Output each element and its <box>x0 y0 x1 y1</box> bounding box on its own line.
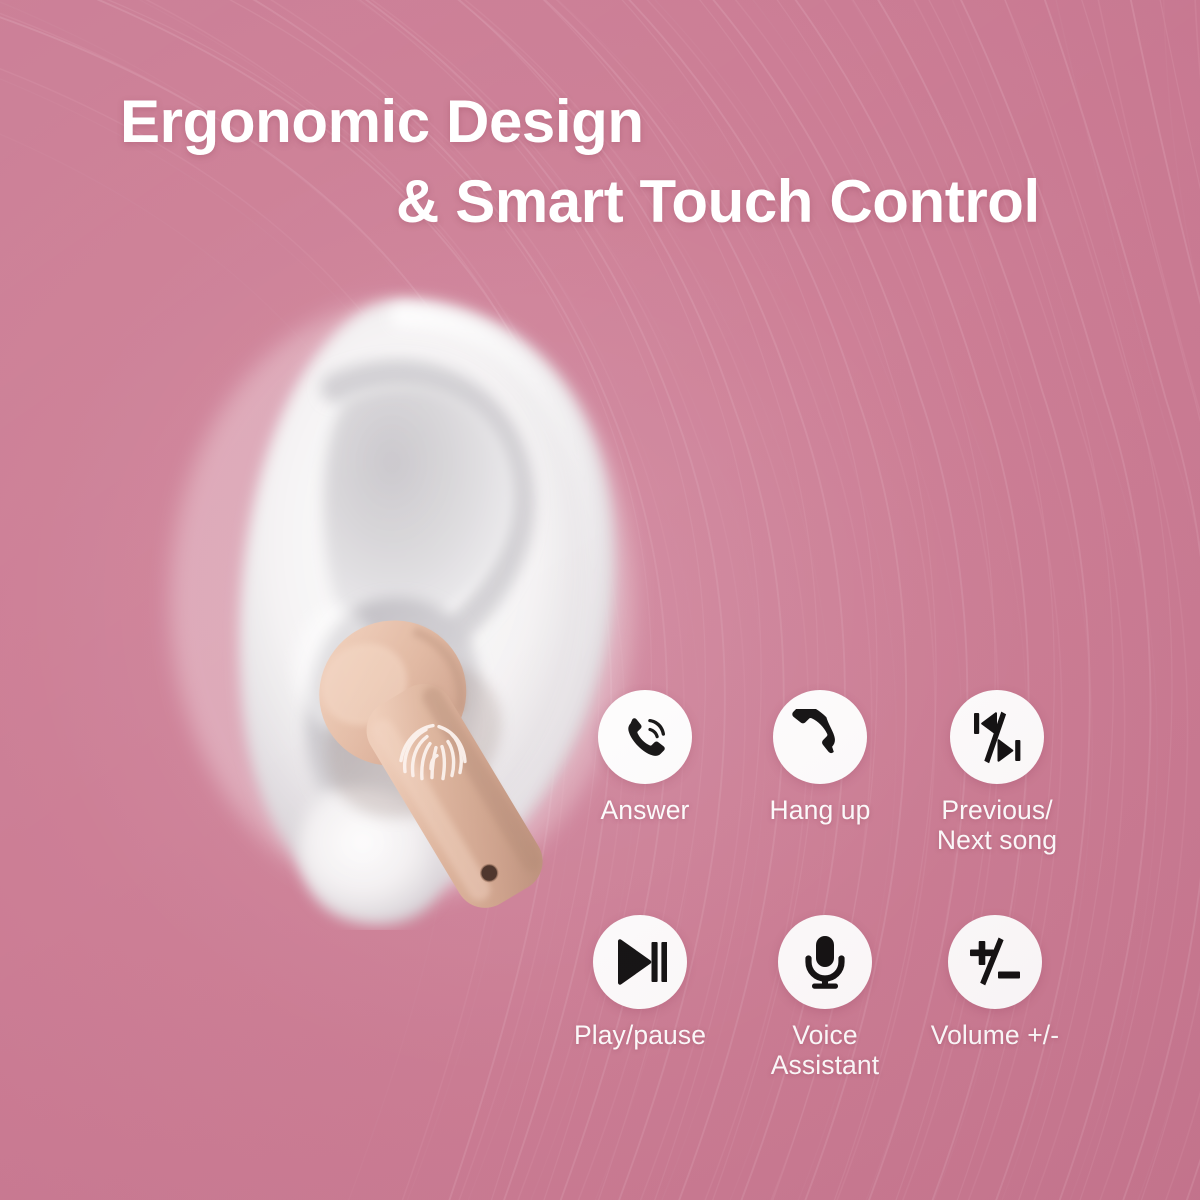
play-pause-icon <box>613 937 667 987</box>
page-title: Ergonomic Design & Smart Touch Control <box>0 82 1200 242</box>
control-icon-bubble[interactable] <box>950 690 1044 784</box>
control-hang-up[interactable]: Hang up <box>735 690 905 826</box>
phone-call-incoming-icon <box>619 711 671 763</box>
control-label: Play/pause <box>555 1021 725 1051</box>
control-label: Voice Assistant <box>740 1021 910 1081</box>
control-label: Hang up <box>735 796 905 826</box>
touch-control-legend: Answer Hang up <box>560 690 1160 1120</box>
control-label: Previous/ Next song <box>912 796 1082 856</box>
control-voice-assistant[interactable]: Voice Assistant <box>740 915 910 1081</box>
control-icon-bubble[interactable] <box>773 690 867 784</box>
control-answer[interactable]: Answer <box>560 690 730 826</box>
control-icon-bubble[interactable] <box>948 915 1042 1009</box>
control-label: Volume +/- <box>910 1021 1080 1051</box>
product-feature-banner: Answer Hang up <box>0 0 1200 1200</box>
previous-next-track-icon <box>968 708 1026 766</box>
phone-hangup-icon <box>792 709 848 765</box>
volume-plus-minus-icon <box>967 936 1023 988</box>
control-icon-bubble[interactable] <box>598 690 692 784</box>
control-icon-bubble[interactable] <box>778 915 872 1009</box>
headline-line-1: Ergonomic Design <box>0 82 1200 162</box>
control-volume[interactable]: Volume +/- <box>910 915 1080 1051</box>
control-label: Answer <box>560 796 730 826</box>
control-icon-bubble[interactable] <box>593 915 687 1009</box>
headline-line-2: & Smart Touch Control <box>0 162 1200 242</box>
control-previous-next-song[interactable]: Previous/ Next song <box>912 690 1082 856</box>
microphone-icon <box>801 934 849 990</box>
control-play-pause[interactable]: Play/pause <box>555 915 725 1051</box>
